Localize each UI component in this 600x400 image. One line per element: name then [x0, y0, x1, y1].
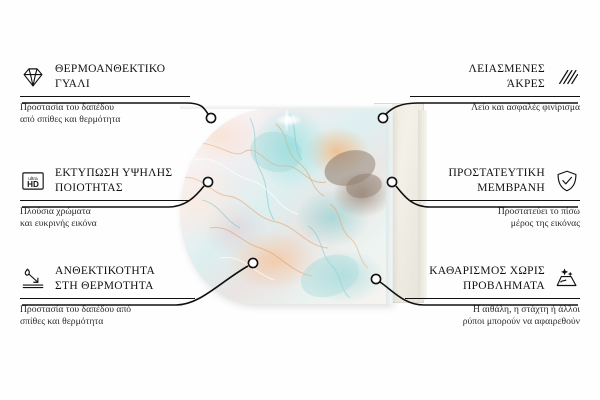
glass-right-edge — [386, 108, 393, 306]
feature-heading: ΠΡΟΣΤΑΤΕΥΤΙΚΗ ΜΕΜΒΡΑΝΗ — [410, 166, 580, 195]
divider — [20, 200, 190, 201]
infographic-canvas: ΘΕΡΜΟΑΝΘΕΚΤΙΚΟ ΓΥΑΛΙ Προστασία του δαπέδ… — [0, 0, 600, 400]
feature-description: Προστατεύει το πίσω μέρος της εικόνας — [410, 206, 580, 231]
feature-protective-membrane: ΠΡΟΣΤΑΤΕΥΤΙΚΗ ΜΕΜΒΡΑΝΗ Προστατεύει το πί… — [410, 166, 580, 231]
feature-easy-cleaning: ΚΑΘΑΡΙΣΜΟΣ ΧΩΡΙΣ ΠΡΟΒΛΗΜΑΤΑ Η αιθάλη, η … — [405, 264, 580, 329]
feature-high-quality-print: ultra HD ΕΚΤΥΠΩΣΗ ΥΨΗΛΗΣ ΠΟΙΟΤΗΤΑΣ Πλούσ… — [20, 166, 190, 231]
glass-glare-highlight — [272, 110, 306, 130]
feature-heading: ΚΑΘΑΡΙΣΜΟΣ ΧΩΡΙΣ ΠΡΟΒΛΗΜΑΤΑ — [405, 264, 580, 293]
divider — [20, 298, 195, 299]
divider — [410, 200, 580, 201]
ultra-hd-icon: ultra HD — [20, 168, 46, 194]
feature-heading: ΑΝΘΕΚΤΙΚΟΤΗΤΑ ΣΤΗ ΘΕΡΜΟΤΗΤΑ — [20, 264, 195, 293]
feature-title: ΘΕΡΜΟΑΝΘΕΚΤΙΚΟ ΓΥΑΛΙ — [55, 62, 165, 91]
polished-edges-icon — [554, 64, 580, 90]
feature-title: ΑΝΘΕΚΤΙΚΟΤΗΤΑ ΣΤΗ ΘΕΡΜΟΤΗΤΑ — [55, 264, 155, 293]
glass-panel — [180, 108, 392, 304]
feature-description: Προστασία του δαπέδου από σπίθες και θερ… — [20, 102, 190, 127]
diamond-icon — [20, 64, 46, 90]
easy-clean-sparkle-icon — [554, 266, 580, 292]
feature-heading: ΛΕΙΑΣΜΕΝΕΣ ΆΚΡΕΣ — [410, 62, 580, 91]
feature-heat-resistant-glass: ΘΕΡΜΟΑΝΘΕΚΤΙΚΟ ΓΥΑΛΙ Προστασία του δαπέδ… — [20, 62, 190, 127]
feature-description: Λείο και ασφαλές φινίρισμα — [410, 102, 580, 114]
glass-reflection — [180, 108, 392, 304]
feature-description: Προστασία του δαπέδου από σπίθες και θερ… — [20, 304, 195, 329]
svg-text:HD: HD — [27, 180, 39, 189]
glass-top-edge — [180, 104, 392, 109]
feature-heading: ultra HD ΕΚΤΥΠΩΣΗ ΥΨΗΛΗΣ ΠΟΙΟΤΗΤΑΣ — [20, 166, 190, 195]
feature-polished-edges: ΛΕΙΑΣΜΕΝΕΣ ΆΚΡΕΣ Λείο και ασφαλές φινίρι… — [410, 62, 580, 114]
product-image — [180, 100, 420, 312]
feature-title: ΕΚΤΥΠΩΣΗ ΥΨΗΛΗΣ ΠΟΙΟΤΗΤΑΣ — [55, 166, 172, 195]
shield-check-icon — [554, 168, 580, 194]
feature-heading: ΘΕΡΜΟΑΝΘΕΚΤΙΚΟ ΓΥΑΛΙ — [20, 62, 190, 91]
feature-title: ΚΑΘΑΡΙΣΜΟΣ ΧΩΡΙΣ ΠΡΟΒΛΗΜΑΤΑ — [429, 264, 545, 293]
feature-title: ΛΕΙΑΣΜΕΝΕΣ ΆΚΡΕΣ — [469, 62, 545, 91]
feature-title: ΠΡΟΣΤΑΤΕΥΤΙΚΗ ΜΕΜΒΡΑΝΗ — [448, 166, 545, 195]
divider — [405, 298, 580, 299]
divider — [410, 96, 580, 97]
divider — [20, 96, 190, 97]
feature-description: Πλούσια χρώματα και ευκρινής εικόνα — [20, 206, 190, 231]
heat-resistance-icon — [20, 266, 46, 292]
feature-heat-resistance: ΑΝΘΕΚΤΙΚΟΤΗΤΑ ΣΤΗ ΘΕΡΜΟΤΗΤΑ Προστασία το… — [20, 264, 195, 329]
feature-description: Η αιθάλη, η στάχτη ή άλλοι ρύποι μπορούν… — [405, 304, 580, 329]
